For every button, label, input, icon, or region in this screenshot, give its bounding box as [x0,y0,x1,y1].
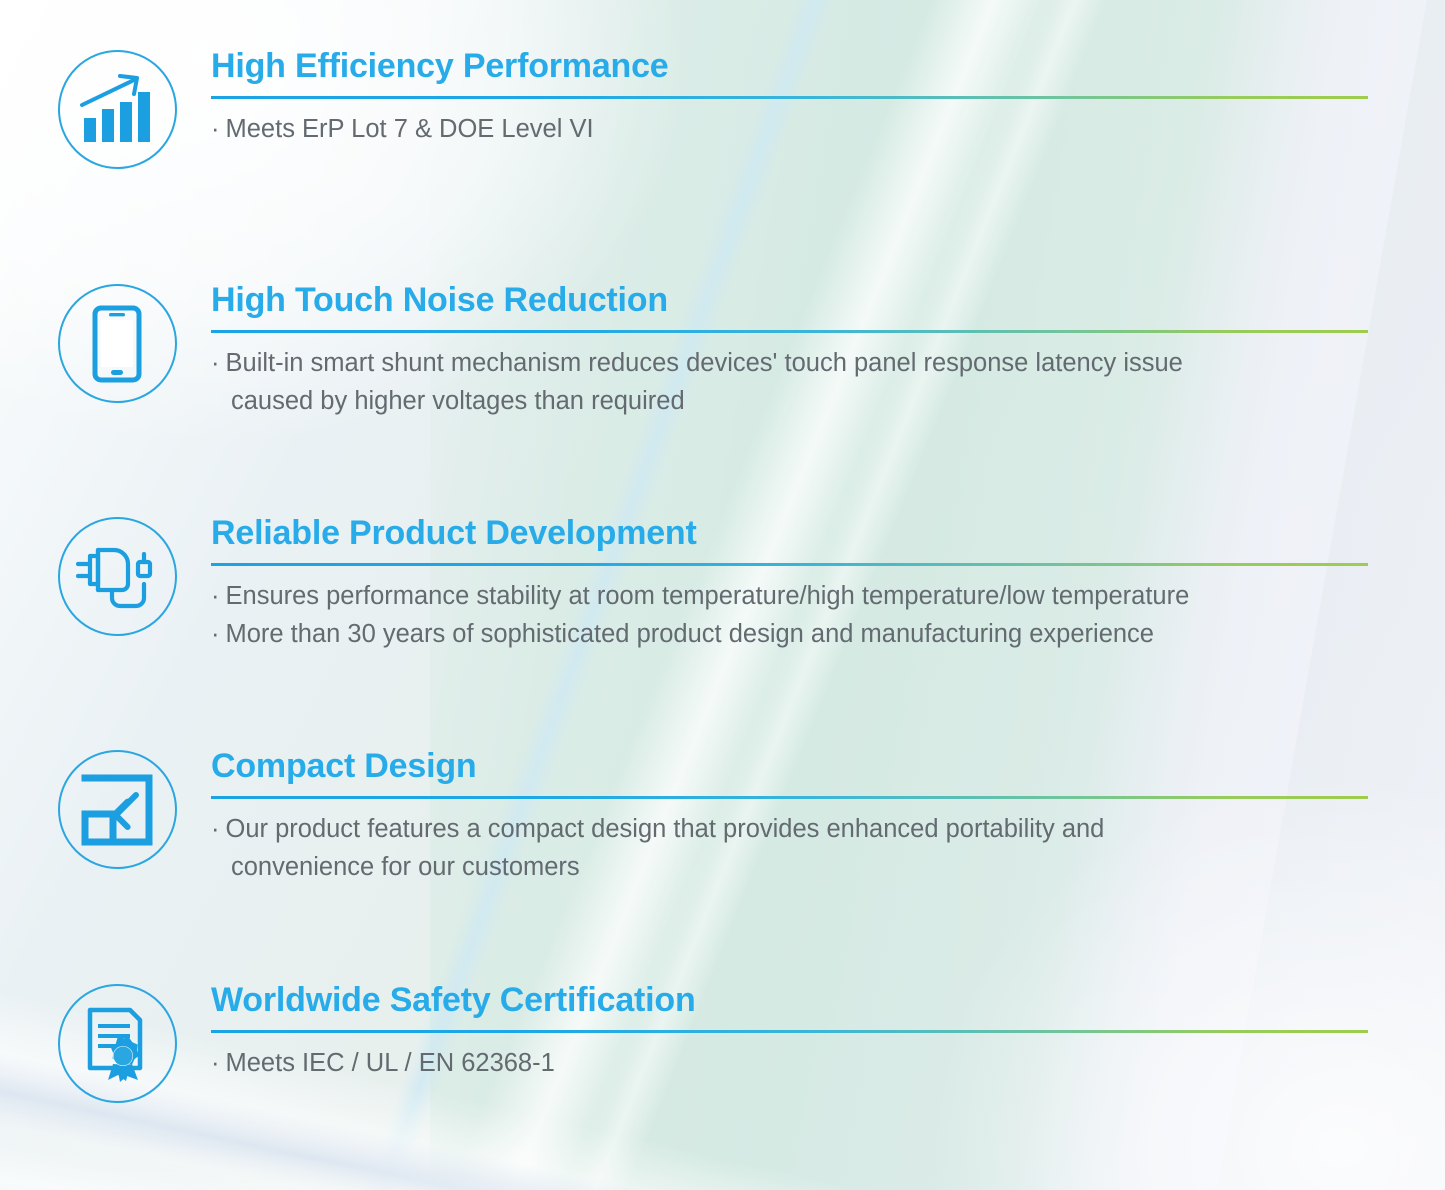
bullet-marker: · [211,1049,226,1077]
feature-icon-wrap [52,748,182,869]
feature-item-high-efficiency-performance: High Efficiency Performance ·Meets ErP L… [0,48,1445,169]
bullet-marker: · [211,815,226,843]
bullet-marker: · [211,582,226,610]
feature-icon-wrap [52,515,182,636]
feature-divider [211,1030,1368,1033]
bullet-text: Built-in smart shunt mechanism reduces d… [226,349,1183,377]
feature-text-column: High Efficiency Performance ·Meets ErP L… [211,48,1445,148]
feature-title: Compact Design [211,748,1368,785]
bullet-marker: · [211,620,226,648]
bullet-marker: · [211,349,226,377]
feature-bullet: ·Ensures performance stability at room t… [211,577,1368,615]
power-adapter-icon [58,517,177,636]
feature-list: High Efficiency Performance ·Meets ErP L… [0,0,1445,1190]
bullet-text: More than 30 years of sophisticated prod… [226,620,1154,648]
feature-icon-wrap [52,282,182,403]
feature-bullets: ·Ensures performance stability at room t… [211,577,1368,654]
bullet-marker: · [211,115,226,143]
feature-divider [211,330,1368,333]
feature-text-column: High Touch Noise Reduction ·Built-in sma… [211,282,1445,420]
bar-chart-growth-icon [58,50,177,169]
feature-icon-wrap [52,982,182,1103]
smartphone-icon [58,284,177,403]
bullet-text: Meets IEC / UL / EN 62368-1 [226,1049,555,1077]
feature-bullet: ·Built-in smart shunt mechanism reduces … [211,344,1368,421]
feature-bullets: ·Built-in smart shunt mechanism reduces … [211,344,1368,421]
feature-title: High Touch Noise Reduction [211,282,1368,319]
bullet-text: Ensures performance stability at room te… [226,582,1190,610]
feature-title: Worldwide Safety Certification [211,982,1368,1019]
feature-bullet: ·Meets IEC / UL / EN 62368-1 [211,1044,1368,1082]
feature-bullets: ·Our product features a compact design t… [211,810,1368,887]
feature-bullets: ·Meets IEC / UL / EN 62368-1 [211,1044,1368,1082]
feature-item-compact-design: Compact Design ·Our product features a c… [0,748,1445,886]
bullet-text: Our product features a compact design th… [226,815,1105,843]
feature-text-column: Reliable Product Development ·Ensures pe… [211,515,1445,653]
bullet-text-continuation: convenience for our customers [211,848,1368,886]
feature-text-column: Compact Design ·Our product features a c… [211,748,1445,886]
feature-bullet: ·Meets ErP Lot 7 & DOE Level VI [211,110,1368,148]
feature-bullet: ·Our product features a compact design t… [211,810,1368,887]
feature-item-worldwide-safety-certification: Worldwide Safety Certification ·Meets IE… [0,982,1445,1103]
feature-divider [211,796,1368,799]
feature-bullets: ·Meets ErP Lot 7 & DOE Level VI [211,110,1368,148]
feature-item-high-touch-noise-reduction: High Touch Noise Reduction ·Built-in sma… [0,282,1445,420]
feature-divider [211,96,1368,99]
bullet-text-continuation: caused by higher voltages than required [211,382,1368,420]
feature-icon-wrap [52,48,182,169]
feature-bullet: ·More than 30 years of sophisticated pro… [211,615,1368,653]
feature-title: High Efficiency Performance [211,48,1368,85]
compact-resize-icon [58,750,177,869]
feature-text-column: Worldwide Safety Certification ·Meets IE… [211,982,1445,1082]
bullet-text: Meets ErP Lot 7 & DOE Level VI [226,115,594,143]
certificate-award-icon [58,984,177,1103]
feature-item-reliable-product-development: Reliable Product Development ·Ensures pe… [0,515,1445,653]
feature-title: Reliable Product Development [211,515,1368,552]
feature-divider [211,563,1368,566]
